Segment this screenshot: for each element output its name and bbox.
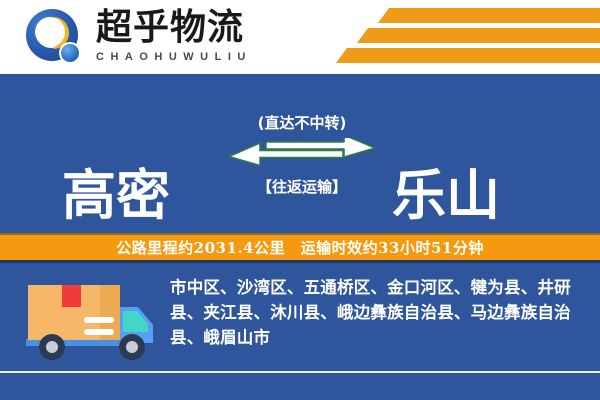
banner-header: 超乎物流 CHAOHUWULIU: [0, 0, 600, 74]
route-middle-block: (直达不中转) 【往返运输】: [226, 114, 378, 196]
double-headed-arrow-icon: [226, 138, 378, 172]
destination-city: 乐山: [392, 167, 500, 223]
company-logo-icon: [26, 9, 84, 67]
distance-duration-text: 公路里程约2031.4公里 运输时效约33小时51分钟: [116, 237, 484, 258]
stripe-3: [336, 48, 600, 63]
distance-duration-bar: 公路里程约2031.4公里 运输时效约33小时51分钟: [0, 233, 600, 263]
stripe-1: [378, 8, 600, 23]
logo-crescent-cutout: [35, 17, 65, 47]
stripe-2: [357, 28, 600, 43]
company-name-en: CHAOHUWULIU: [96, 49, 252, 65]
company-name-block: 超乎物流 CHAOHUWULIU: [96, 8, 252, 65]
header-stripes-decoration: [340, 6, 600, 68]
footer-divider: [0, 371, 600, 373]
round-trip-note: 【往返运输】: [226, 178, 378, 196]
service-area-list: 市中区、沙湾区、五通桥区、金口河区、犍为县、井研县、夹江县、沐川县、峨边彝族自治…: [170, 275, 582, 350]
route-section: 高密 (直达不中转) 【往返运输】 乐山: [0, 74, 600, 233]
service-area-section: 市中区、沙湾区、五通桥区、金口河区、犍为县、井研县、夹江县、沐川县、峨边彝族自治…: [0, 263, 600, 400]
company-name-cn: 超乎物流: [96, 8, 252, 48]
logistics-route-banner: 超乎物流 CHAOHUWULIU 高密 (直达不中转) 【往返运输】 乐山: [0, 0, 600, 400]
delivery-truck-icon: [22, 277, 158, 365]
direct-route-note: (直达不中转): [226, 114, 378, 132]
logo-dot-shape: [59, 42, 81, 64]
origin-city: 高密: [62, 167, 170, 223]
